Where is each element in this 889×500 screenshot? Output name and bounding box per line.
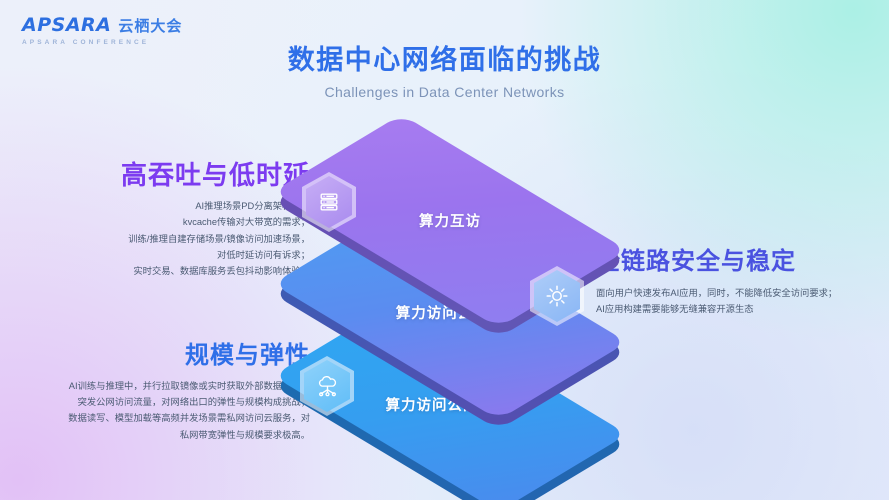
cloud-network-icon bbox=[300, 356, 354, 416]
logo-row: APSARA 云栖大会 bbox=[22, 14, 182, 36]
gear-icon bbox=[530, 266, 584, 326]
feature-block-throughput: 高吞吐与低时延 AI推理场景PD分离架构中， kvcache传输对大带宽的需求；… bbox=[20, 160, 310, 280]
body-line: 训练/推理自建存储场景/镜像访问加速场景， bbox=[20, 231, 310, 247]
body-line: 面向用户快速发布AI应用，同时，不能降低安全访问要求； bbox=[596, 285, 882, 301]
title-english: Challenges in Data Center Networks bbox=[0, 84, 889, 100]
body-line: AI应用构建需要能够无缝兼容开源生态 bbox=[596, 301, 882, 317]
body-line: 数据读写、模型加载等高频并发场景需私网访问云服务，对 bbox=[8, 410, 310, 426]
title-chinese: 数据中心网络面临的挑战 bbox=[0, 44, 889, 78]
logo-wordmark-cn: 云栖大会 bbox=[118, 15, 182, 36]
page-title: 数据中心网络面临的挑战 Challenges in Data Center Ne… bbox=[0, 44, 889, 100]
body-line: 实时交易、数据库服务丢包抖动影响体验； bbox=[20, 263, 310, 279]
logo-wordmark-en: APSARA bbox=[22, 14, 111, 36]
body-line: kvcache传输对大带宽的需求； bbox=[20, 214, 310, 230]
feature-heading: 全链路安全与稳定 bbox=[596, 248, 882, 277]
feature-block-security: 全链路安全与稳定 面向用户快速发布AI应用，同时，不能降低安全访问要求； AI应… bbox=[596, 248, 882, 317]
body-line: 突发公网访问流量，对网络出口的弹性与规模构成挑战； bbox=[8, 394, 310, 410]
slide-canvas: APSARA 云栖大会 APSARA CONFERENCE 数据中心网络面临的挑… bbox=[0, 0, 889, 500]
body-line: 对低时延访问有诉求； bbox=[20, 247, 310, 263]
feature-block-scale: 规模与弹性 AI训练与推理中，并行拉取镜像或实时获取外部数据易引发 突发公网访问… bbox=[8, 342, 310, 443]
feature-body: 面向用户快速发布AI应用，同时，不能降低安全访问要求； AI应用构建需要能够无缝… bbox=[596, 285, 882, 318]
apsara-conference-logo: APSARA 云栖大会 APSARA CONFERENCE bbox=[22, 14, 182, 46]
feature-body: AI推理场景PD分离架构中， kvcache传输对大带宽的需求； 训练/推理自建… bbox=[20, 198, 310, 279]
server-stack-icon bbox=[302, 172, 356, 232]
feature-heading: 规模与弹性 bbox=[8, 342, 310, 371]
body-line: 私网带宽弹性与规模要求极高。 bbox=[8, 427, 310, 443]
feature-body: AI训练与推理中，并行拉取镜像或实时获取外部数据易引发 突发公网访问流量，对网络… bbox=[8, 378, 310, 443]
feature-heading: 高吞吐与低时延 bbox=[20, 160, 310, 191]
body-line: AI训练与推理中，并行拉取镜像或实时获取外部数据易引发 bbox=[8, 378, 310, 394]
body-line: AI推理场景PD分离架构中， bbox=[20, 198, 310, 214]
